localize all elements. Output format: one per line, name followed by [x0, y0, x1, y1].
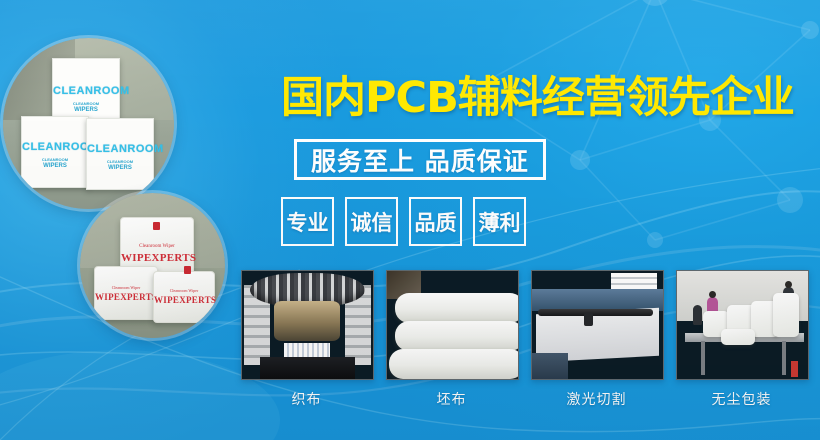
process-thumbnail-greige-fabric[interactable]: 坯布 — [386, 270, 517, 409]
package-sub-label-2: WIPERS — [22, 163, 88, 169]
package-sub-label-1: CLEANROOM — [22, 157, 88, 162]
promo-banner: CLEANROOM CLEANROOM WIPERS CLEANROOM CLE… — [0, 0, 820, 440]
laser-gantry — [538, 309, 653, 316]
machine-drum — [274, 301, 340, 341]
package-brand-label: CLEANROOM — [87, 143, 153, 155]
cleanroom-packing-photo — [676, 270, 809, 380]
laser-cutting-photo — [531, 270, 664, 380]
packed-bag — [773, 293, 799, 337]
thumbnail-caption: 坯布 — [386, 389, 517, 409]
banner-headline: 国内PCB辅料经营领先企业 — [281, 72, 794, 124]
thumbnail-caption: 激光切割 — [531, 389, 662, 409]
red-bin — [791, 361, 798, 377]
package-sub-label-1: CLEANROOM — [53, 101, 119, 106]
thumbnail-caption: 织布 — [241, 389, 372, 409]
table-leg — [782, 341, 786, 375]
table-leg — [701, 341, 705, 375]
bale-brand-label: WIPEXPERTS — [121, 252, 193, 264]
package-sub-label-2: WIPERS — [53, 107, 119, 113]
worker-head — [709, 291, 716, 298]
feature-tag-quality: 品质 — [409, 197, 462, 246]
package-sub-label-2: WIPERS — [87, 165, 153, 171]
red-stamp-icon — [153, 222, 160, 230]
wipe-package: CLEANROOM CLEANROOM WIPERS — [86, 118, 154, 190]
process-thumbnail-strip: 织布 坯布 激光切割 — [241, 270, 807, 409]
wipe-bale: Cleanroom Wiper WIPEXPERTS — [94, 266, 158, 320]
knitting-photo — [241, 270, 374, 380]
banner-slogan: 服务至上 品质保证 — [294, 139, 546, 180]
red-stamp-icon — [184, 266, 191, 274]
feature-tag-low-margin: 薄利 — [473, 197, 526, 246]
greige-fabric-photo — [386, 270, 519, 380]
machine-cabinet — [532, 353, 568, 379]
material-stack — [611, 273, 657, 289]
packed-bag — [721, 329, 755, 345]
wipe-package: CLEANROOM CLEANROOM WIPERS — [21, 116, 89, 188]
machine-base — [260, 357, 355, 379]
cleanroom-wipes-photo: CLEANROOM CLEANROOM WIPERS CLEANROOM CLE… — [3, 38, 174, 209]
bale-brand-label: WIPEXPERTS — [154, 295, 214, 305]
feature-tag-list: 专业 诚信 品质 薄利 — [281, 197, 526, 246]
worker — [693, 305, 702, 325]
thumbnail-caption: 无尘包装 — [676, 389, 807, 409]
process-thumbnail-cleanroom-packing[interactable]: 无尘包装 — [676, 270, 807, 409]
bale-sub-label: Cleanroom Wiper — [154, 288, 214, 293]
product-circle-cleanroom: CLEANROOM CLEANROOM WIPERS CLEANROOM CLE… — [3, 38, 174, 209]
fabric-roll — [389, 349, 519, 379]
package-brand-label: CLEANROOM — [53, 85, 119, 97]
fabric-roll — [395, 293, 519, 323]
feature-tag-professional: 专业 — [281, 197, 334, 246]
process-thumbnail-laser-cutting[interactable]: 激光切割 — [531, 270, 662, 409]
feature-tag-integrity: 诚信 — [345, 197, 398, 246]
worker-head — [785, 281, 792, 288]
laser-head — [584, 313, 593, 326]
package-sub-label-1: CLEANROOM — [87, 159, 153, 164]
process-thumbnail-knitting[interactable]: 织布 — [241, 270, 372, 409]
fabric-roll — [395, 321, 519, 351]
package-brand-label: CLEANROOM — [22, 141, 88, 153]
wipexperts-photo: Cleanroom Wiper WIPEXPERTS Cleanroom Wip… — [80, 193, 225, 338]
product-circle-wipexperts: Cleanroom Wiper WIPEXPERTS Cleanroom Wip… — [80, 193, 225, 338]
bale-sub-label: Cleanroom Wiper — [95, 285, 157, 290]
bale-sub-label: Cleanroom Wiper — [121, 244, 193, 249]
wipe-bale: Cleanroom Wiper WIPEXPERTS — [153, 271, 215, 323]
bale-brand-label: WIPEXPERTS — [95, 292, 157, 302]
